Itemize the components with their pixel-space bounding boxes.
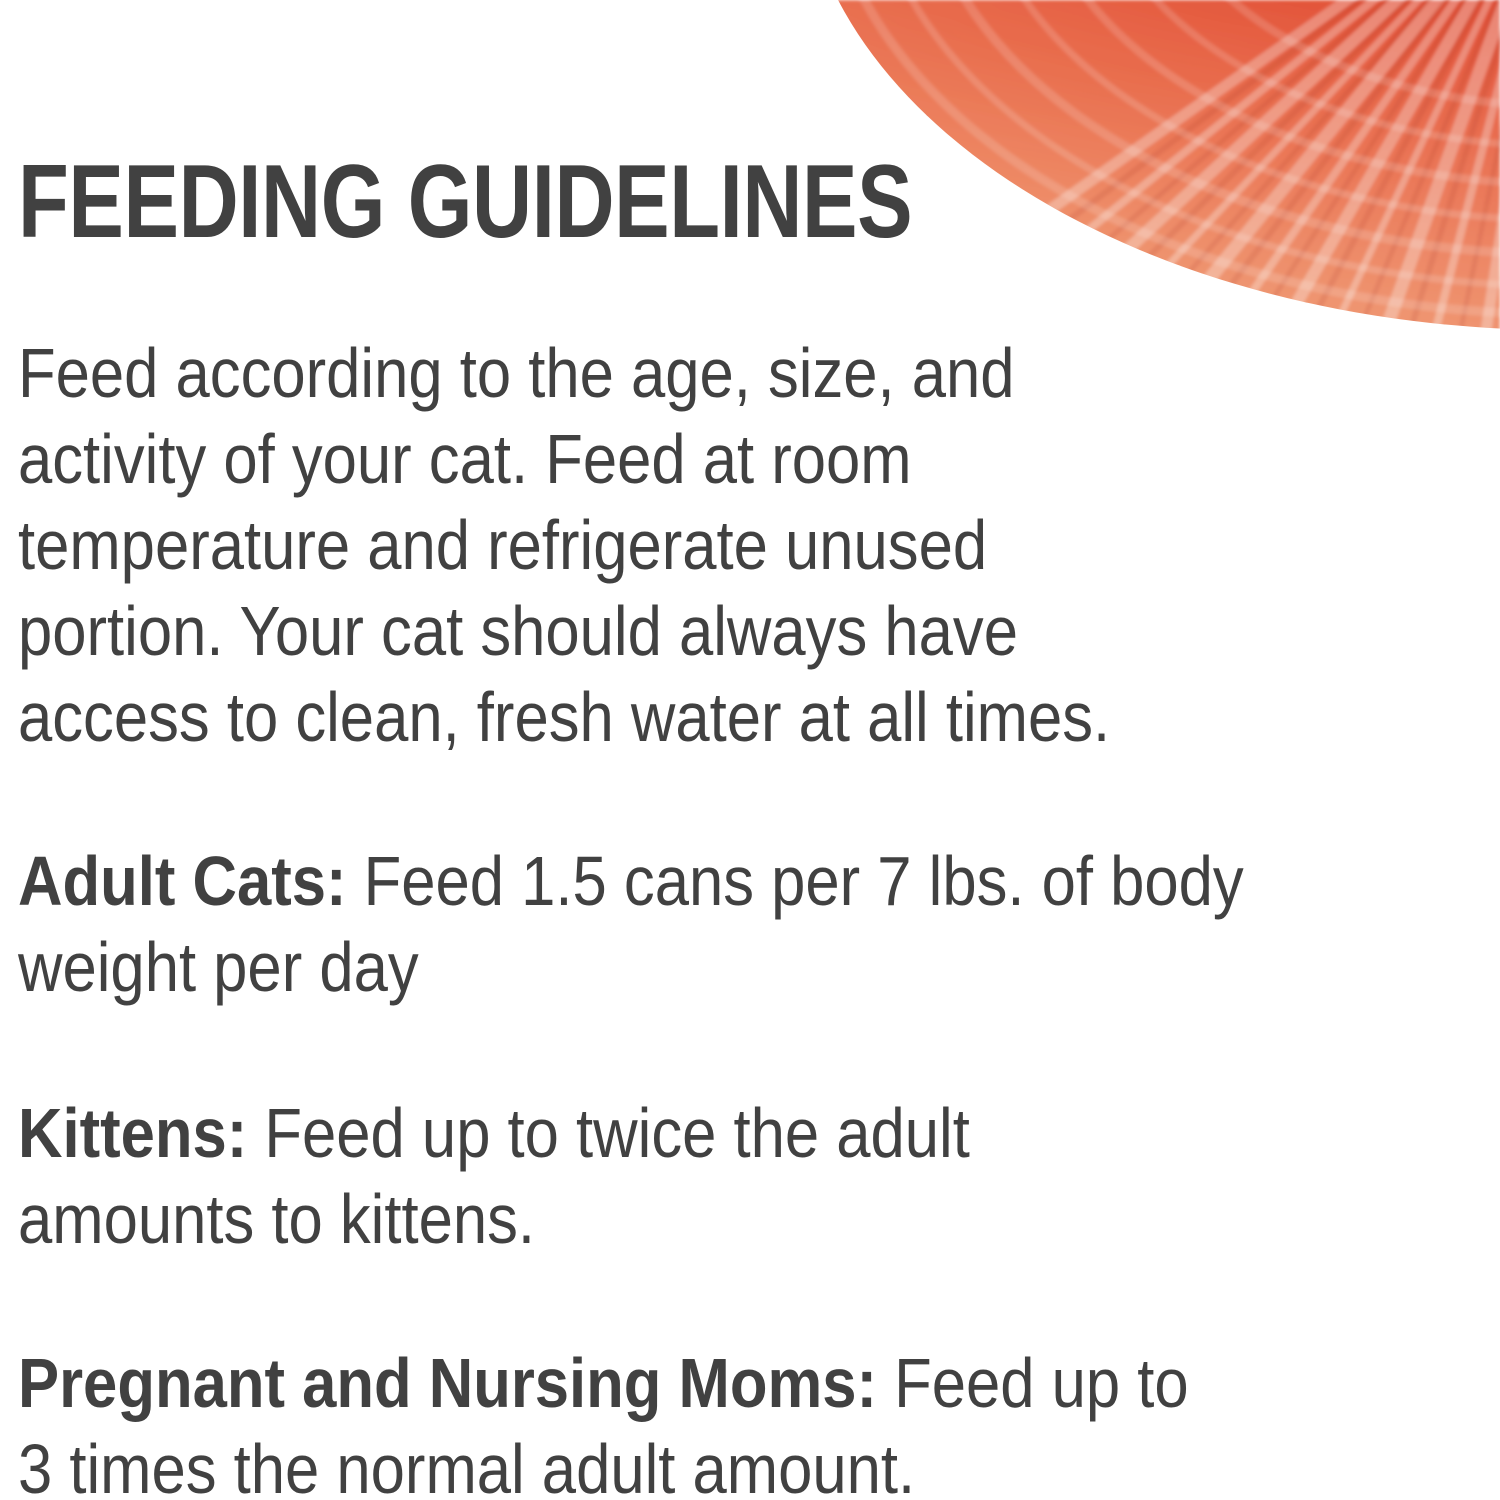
- label-content: FEEDING GUIDELINES Feed according to the…: [18, 0, 1482, 1500]
- intro-line-2: activity of your cat. Feed at room: [18, 416, 1479, 502]
- intro-line-4: portion. Your cat should always have: [18, 588, 1479, 674]
- feeding-guidelines-label: FEEDING GUIDELINES Feed according to the…: [0, 0, 1500, 1500]
- adult-cats-line-2: weight per day: [18, 924, 1479, 1010]
- nursing-moms-section: Pregnant and Nursing Moms: Feed up to 3 …: [18, 1340, 1479, 1500]
- adult-cats-label: Adult Cats:: [18, 842, 347, 920]
- intro-paragraph: Feed according to the age, size, and act…: [18, 330, 1479, 760]
- intro-line-5: access to clean, fresh water at all time…: [18, 674, 1479, 760]
- adult-cats-line-1: Adult Cats: Feed 1.5 cans per 7 lbs. of …: [18, 838, 1479, 924]
- kittens-section: Kittens: Feed up to twice the adult amou…: [18, 1090, 1479, 1262]
- page-title: FEEDING GUIDELINES: [18, 150, 912, 254]
- kittens-label: Kittens:: [18, 1094, 247, 1172]
- kittens-line-2: amounts to kittens.: [18, 1176, 1479, 1262]
- nursing-moms-line-2: 3 times the normal adult amount.: [18, 1426, 1479, 1500]
- adult-cats-section: Adult Cats: Feed 1.5 cans per 7 lbs. of …: [18, 838, 1479, 1010]
- nursing-moms-label: Pregnant and Nursing Moms:: [18, 1344, 877, 1422]
- intro-line-3: temperature and refrigerate unused: [18, 502, 1479, 588]
- nursing-moms-line-1: Pregnant and Nursing Moms: Feed up to: [18, 1340, 1479, 1426]
- kittens-line-1: Kittens: Feed up to twice the adult: [18, 1090, 1479, 1176]
- adult-cats-text-1: Feed 1.5 cans per 7 lbs. of body: [347, 842, 1244, 920]
- nursing-moms-text-1: Feed up to: [877, 1344, 1189, 1422]
- intro-line-1: Feed according to the age, size, and: [18, 330, 1479, 416]
- kittens-text-1: Feed up to twice the adult: [247, 1094, 970, 1172]
